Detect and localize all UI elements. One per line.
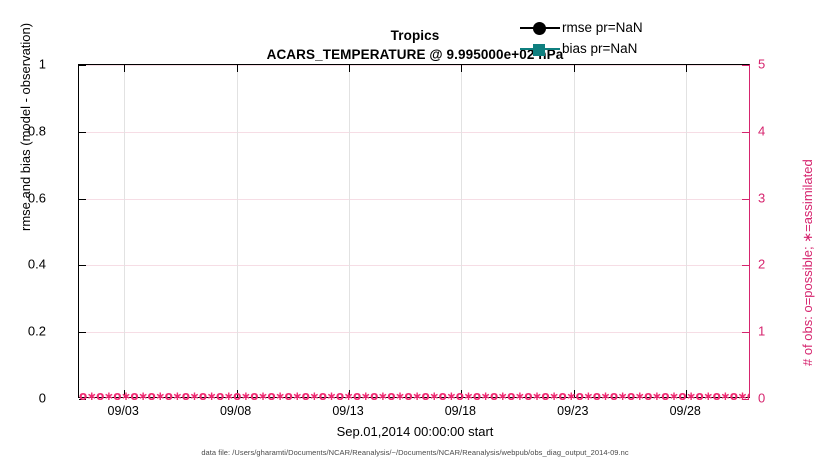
gridline-horizontal <box>79 132 749 133</box>
x-axis-tick-label: 09/28 <box>670 404 701 418</box>
left-axis-tick <box>79 65 86 66</box>
right-axis-tick-label: 1 <box>758 324 765 339</box>
x-axis-tick-top <box>349 65 350 72</box>
x-axis-tick-label: 09/08 <box>220 404 251 418</box>
x-axis-tick-label: 09/13 <box>332 404 363 418</box>
right-axis-title: # of obs: o=possible; ∗=assimilated <box>800 159 816 366</box>
gridline-vertical <box>349 65 350 397</box>
square-icon <box>533 44 545 56</box>
x-axis-tick-top <box>124 65 125 72</box>
gridline-horizontal <box>79 65 749 66</box>
right-axis-tick-label: 0 <box>758 391 765 406</box>
right-axis-tick-label: 5 <box>758 57 765 72</box>
gridline-horizontal <box>79 265 749 266</box>
x-axis-tick-top <box>461 65 462 72</box>
x-axis-tick-label: 09/23 <box>557 404 588 418</box>
page-title: Tropics <box>0 26 830 45</box>
gridline-horizontal <box>79 332 749 333</box>
legend-item-bias[interactable]: bias pr=NaN <box>520 38 660 59</box>
gridline-vertical <box>461 65 462 397</box>
x-axis-tick-label: 09/03 <box>108 404 139 418</box>
x-axis-tick-label: 09/18 <box>445 404 476 418</box>
x-axis-tick-top <box>574 65 575 72</box>
left-axis-tick-label: 0 <box>39 391 46 406</box>
left-axis-tick-label: 0.4 <box>28 257 46 272</box>
gridline-vertical <box>686 65 687 397</box>
right-axis-tick-label: 4 <box>758 123 765 138</box>
gridline-vertical <box>574 65 575 397</box>
x-axis-tick-top <box>237 65 238 72</box>
bias-marker-sample <box>520 41 560 57</box>
gridline-horizontal <box>79 199 749 200</box>
left-axis-tick <box>79 132 86 133</box>
circle-icon <box>533 22 546 35</box>
right-axis-tick <box>742 199 749 200</box>
plot-area: o∗o∗o∗o∗o∗o∗o∗o∗o∗o∗o∗o∗o∗o∗o∗o∗o∗o∗o∗o∗… <box>78 64 750 398</box>
right-axis-tick <box>742 132 749 133</box>
left-axis-tick-label: 0.2 <box>28 324 46 339</box>
legend-label-bias: bias pr=NaN <box>560 41 637 56</box>
chart-legend: rmse pr=NaN bias pr=NaN <box>520 17 660 59</box>
left-axis-tick <box>79 265 86 266</box>
legend-label-rmse: rmse pr=NaN <box>560 20 643 35</box>
x-axis-tick-top <box>686 65 687 72</box>
right-axis-tick-label: 3 <box>758 190 765 205</box>
title-block: Tropics ACARS_TEMPERATURE @ 9.995000e+02… <box>0 26 830 65</box>
right-axis-tick <box>742 332 749 333</box>
legend-item-rmse[interactable]: rmse pr=NaN <box>520 17 660 38</box>
data-file-caption: data file: /Users/gharamti/Documents/NCA… <box>0 448 830 457</box>
gridline-vertical <box>237 65 238 397</box>
x-axis-title: Sep.01,2014 00:00:00 start <box>0 424 830 439</box>
left-axis-tick-label: 1 <box>39 57 46 72</box>
right-axis-tick <box>742 265 749 266</box>
rmse-marker-sample <box>520 20 560 36</box>
left-axis-tick <box>79 199 86 200</box>
page-subtitle: ACARS_TEMPERATURE @ 9.995000e+02 hPa <box>0 45 830 65</box>
obs-count-marker-series: o∗o∗o∗o∗o∗o∗o∗o∗o∗o∗o∗o∗o∗o∗o∗o∗o∗o∗o∗o∗… <box>79 390 749 403</box>
right-axis-tick-label: 2 <box>758 257 765 272</box>
gridline-vertical <box>124 65 125 397</box>
left-axis-tick <box>79 332 86 333</box>
left-axis-title: rmse and bias (model - observation) <box>18 23 33 231</box>
right-axis-tick <box>742 65 749 66</box>
